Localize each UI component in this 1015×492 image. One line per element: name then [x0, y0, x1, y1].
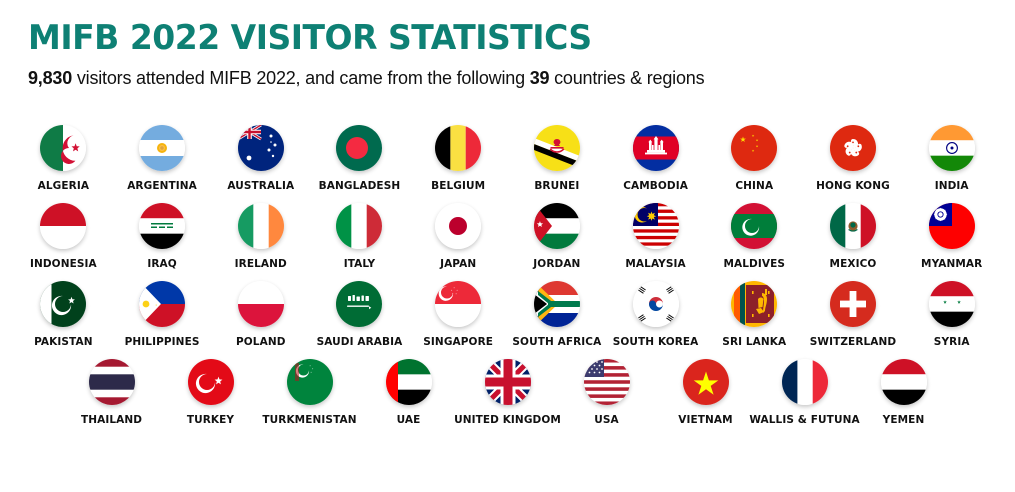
- country-label: INDONESIA: [30, 258, 97, 270]
- country-item[interactable]: ARGENTINA: [113, 118, 212, 192]
- country-label: INDIA: [935, 180, 969, 192]
- country-label: PHILIPPINES: [125, 336, 200, 348]
- subtitle-tail-text: countries & regions: [549, 68, 704, 88]
- flag-hong-kong-icon: [830, 125, 876, 171]
- country-label: SWITZERLAND: [810, 336, 897, 348]
- country-label: THAILAND: [81, 414, 142, 426]
- flag-italy-icon: [336, 203, 382, 249]
- country-item[interactable]: TURKEY: [161, 352, 260, 426]
- country-label: AUSTRALIA: [227, 180, 294, 192]
- country-label: HONG KONG: [816, 180, 890, 192]
- country-item[interactable]: SAUDI ARABIA: [310, 274, 409, 348]
- country-item[interactable]: BANGLADESH: [310, 118, 409, 192]
- country-item[interactable]: MYANMAR: [902, 196, 1001, 270]
- country-item[interactable]: SOUTH AFRICA: [508, 274, 607, 348]
- page-subtitle: 9,830 visitors attended MIFB 2022, and c…: [28, 68, 704, 89]
- flag-grid: ALGERIAARGENTINAAUSTRALIABANGLADESHBELGI…: [0, 118, 1015, 430]
- country-count: 39: [530, 68, 550, 88]
- flag-sri-lanka-icon: [731, 281, 777, 327]
- flag-poland-icon: [238, 281, 284, 327]
- flag-myanmar-icon: [929, 203, 975, 249]
- country-item[interactable]: BRUNEI: [508, 118, 607, 192]
- flag-jordan-icon: [534, 203, 580, 249]
- country-item[interactable]: ALGERIA: [14, 118, 113, 192]
- flag-mexico-icon: [830, 203, 876, 249]
- flag-belgium-icon: [435, 125, 481, 171]
- country-label: ITALY: [344, 258, 376, 270]
- country-item[interactable]: SYRIA: [902, 274, 1001, 348]
- country-label: POLAND: [236, 336, 286, 348]
- country-item[interactable]: BELGIUM: [409, 118, 508, 192]
- country-label: ARGENTINA: [127, 180, 197, 192]
- country-label: SOUTH KOREA: [613, 336, 699, 348]
- country-label: SYRIA: [934, 336, 970, 348]
- flag-india-icon: [929, 125, 975, 171]
- country-item[interactable]: PHILIPPINES: [113, 274, 212, 348]
- country-label: IRAQ: [147, 258, 176, 270]
- flag-yemen-icon: [881, 359, 927, 405]
- flag-united-kingdom-icon: [485, 359, 531, 405]
- flag-turkmenistan-icon: [287, 359, 333, 405]
- country-label: UAE: [397, 414, 421, 426]
- country-item[interactable]: MEXICO: [804, 196, 903, 270]
- country-item[interactable]: SWITZERLAND: [804, 274, 903, 348]
- flag-bangladesh-icon: [336, 125, 382, 171]
- flag-iraq-icon: [139, 203, 185, 249]
- country-label: YEMEN: [883, 414, 925, 426]
- country-label: WALLIS & FUTUNA: [749, 414, 859, 426]
- country-item[interactable]: MALDIVES: [705, 196, 804, 270]
- country-label: UNITED KINGDOM: [454, 414, 561, 426]
- country-label: MYANMAR: [921, 258, 982, 270]
- flag-philippines-icon: [139, 281, 185, 327]
- country-label: MEXICO: [830, 258, 877, 270]
- country-label: JAPAN: [440, 258, 476, 270]
- country-label: BRUNEI: [534, 180, 579, 192]
- country-label: VIETNAM: [678, 414, 732, 426]
- country-item[interactable]: CHINA: [705, 118, 804, 192]
- flag-syria-icon: [929, 281, 975, 327]
- country-label: SRI LANKA: [722, 336, 786, 348]
- flag-south-africa-icon: [534, 281, 580, 327]
- country-label: JORDAN: [533, 258, 580, 270]
- subtitle-mid-text: visitors attended MIFB 2022, and came fr…: [72, 68, 530, 88]
- flag-wallis-futuna-icon: [782, 359, 828, 405]
- country-item[interactable]: CAMBODIA: [606, 118, 705, 192]
- flag-turkey-icon: [188, 359, 234, 405]
- country-item[interactable]: HONG KONG: [804, 118, 903, 192]
- country-label: ALGERIA: [38, 180, 89, 192]
- country-label: TURKEY: [187, 414, 234, 426]
- country-item[interactable]: JAPAN: [409, 196, 508, 270]
- country-label: MALAYSIA: [625, 258, 685, 270]
- country-label: BELGIUM: [431, 180, 485, 192]
- page-title: MIFB 2022 VISITOR STATISTICS: [28, 18, 592, 58]
- country-label: SAUDI ARABIA: [317, 336, 403, 348]
- country-item[interactable]: YEMEN: [854, 352, 953, 426]
- country-label: SOUTH AFRICA: [512, 336, 601, 348]
- country-item[interactable]: IRELAND: [211, 196, 310, 270]
- country-item[interactable]: PAKISTAN: [14, 274, 113, 348]
- country-item[interactable]: THAILAND: [62, 352, 161, 426]
- country-label: USA: [594, 414, 619, 426]
- flag-vietnam-icon: [683, 359, 729, 405]
- country-item[interactable]: USA: [557, 352, 656, 426]
- country-item[interactable]: SOUTH KOREA: [606, 274, 705, 348]
- flag-uae-icon: [386, 359, 432, 405]
- country-label: CAMBODIA: [623, 180, 688, 192]
- flag-usa-icon: [584, 359, 630, 405]
- infographic-page: MIFB 2022 VISITOR STATISTICS 9,830 visit…: [0, 0, 1015, 492]
- country-item[interactable]: POLAND: [211, 274, 310, 348]
- flag-thailand-icon: [89, 359, 135, 405]
- flag-cambodia-icon: [633, 125, 679, 171]
- country-item[interactable]: AUSTRALIA: [211, 118, 310, 192]
- flag-japan-icon: [435, 203, 481, 249]
- country-item[interactable]: INDIA: [902, 118, 1001, 192]
- country-item[interactable]: INDONESIA: [14, 196, 113, 270]
- flag-south-korea-icon: [633, 281, 679, 327]
- country-label: IRELAND: [235, 258, 287, 270]
- flag-row-2: INDONESIAIRAQIRELANDITALYJAPANJORDANMALA…: [0, 196, 1015, 270]
- flag-algeria-icon: [40, 125, 86, 171]
- country-item[interactable]: UAE: [359, 352, 458, 426]
- visitor-count: 9,830: [28, 68, 72, 88]
- flag-row-3: PAKISTANPHILIPPINESPOLANDSAUDI ARABIASIN…: [0, 274, 1015, 348]
- country-label: BANGLADESH: [319, 180, 401, 192]
- flag-australia-icon: [238, 125, 284, 171]
- country-item[interactable]: MALAYSIA: [606, 196, 705, 270]
- flag-pakistan-icon: [40, 281, 86, 327]
- country-label: TURKMENISTAN: [262, 414, 356, 426]
- flag-malaysia-icon: [633, 203, 679, 249]
- country-label: PAKISTAN: [34, 336, 93, 348]
- country-item[interactable]: SINGAPORE: [409, 274, 508, 348]
- flag-ireland-icon: [238, 203, 284, 249]
- flag-row-1: ALGERIAARGENTINAAUSTRALIABANGLADESHBELGI…: [0, 118, 1015, 192]
- country-item[interactable]: TURKMENISTAN: [260, 352, 359, 426]
- flag-row-4: THAILANDTURKEYTURKMENISTANUAEUNITED KING…: [0, 352, 1015, 426]
- country-item[interactable]: ITALY: [310, 196, 409, 270]
- flag-indonesia-icon: [40, 203, 86, 249]
- flag-saudi-arabia-icon: [336, 281, 382, 327]
- country-item[interactable]: IRAQ: [113, 196, 212, 270]
- flag-maldives-icon: [731, 203, 777, 249]
- flag-brunei-icon: [534, 125, 580, 171]
- country-item[interactable]: UNITED KINGDOM: [458, 352, 557, 426]
- flag-switzerland-icon: [830, 281, 876, 327]
- flag-singapore-icon: [435, 281, 481, 327]
- country-label: CHINA: [735, 180, 773, 192]
- country-item[interactable]: JORDAN: [508, 196, 607, 270]
- flag-argentina-icon: [139, 125, 185, 171]
- flag-china-icon: [731, 125, 777, 171]
- country-label: SINGAPORE: [423, 336, 493, 348]
- country-item[interactable]: SRI LANKA: [705, 274, 804, 348]
- country-item[interactable]: VIETNAM: [656, 352, 755, 426]
- country-label: MALDIVES: [723, 258, 785, 270]
- country-item[interactable]: WALLIS & FUTUNA: [755, 352, 854, 426]
